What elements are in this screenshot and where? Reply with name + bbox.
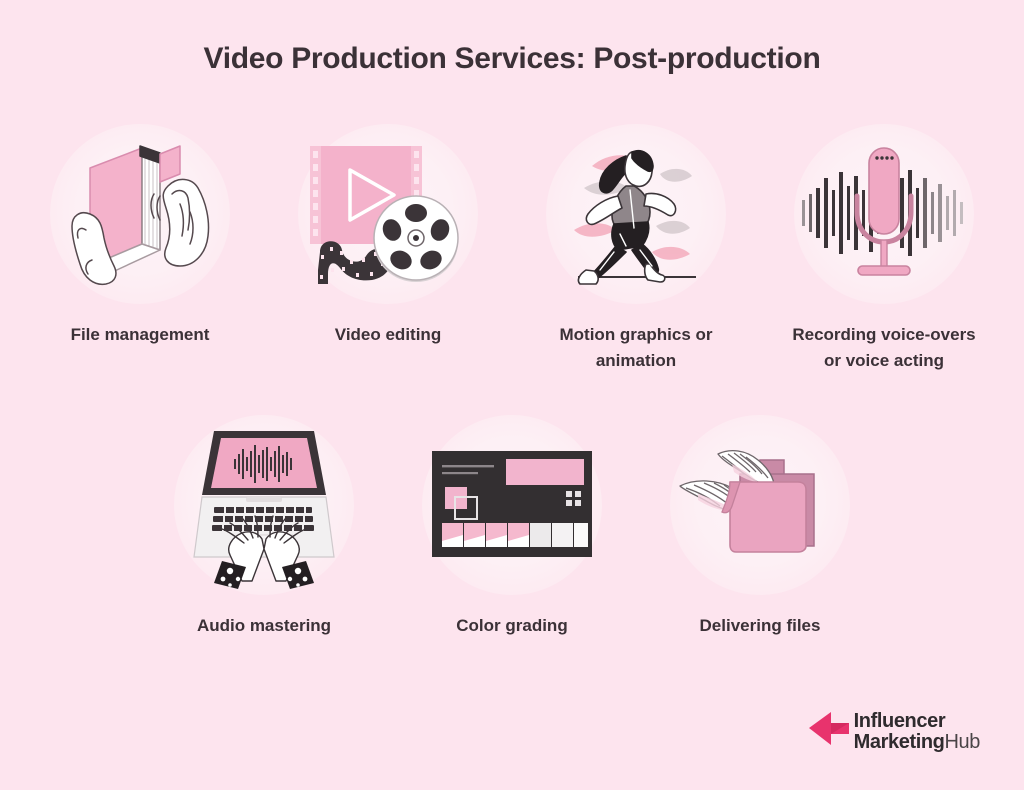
icon-container bbox=[298, 124, 478, 304]
logo-hub-text: Hub bbox=[945, 731, 981, 753]
microphone-waveform-icon bbox=[796, 134, 972, 294]
brand-logo[interactable]: Influencer MarketingHub bbox=[807, 709, 980, 754]
logo-arrow-icon bbox=[807, 709, 851, 754]
service-card-voice-recording[interactable]: Recording voice-overs or voice acting bbox=[763, 124, 1005, 373]
icon-container bbox=[50, 124, 230, 304]
logo-marketing-text: Marketing bbox=[854, 731, 945, 753]
icon-container bbox=[546, 124, 726, 304]
binder-hands-icon bbox=[56, 134, 224, 294]
service-label: Delivering files bbox=[700, 613, 821, 639]
color-panel-icon bbox=[428, 445, 596, 565]
service-label: File management bbox=[71, 322, 210, 348]
running-figure-icon bbox=[556, 134, 716, 294]
icon-container bbox=[794, 124, 974, 304]
service-card-motion-graphics[interactable]: Motion graphics or animation bbox=[515, 124, 757, 373]
service-row-2: Audio mastering bbox=[0, 415, 1024, 639]
service-label: Video editing bbox=[335, 322, 441, 348]
laptop-waveform-icon bbox=[180, 421, 348, 589]
film-reel-icon bbox=[302, 134, 474, 294]
service-card-file-management[interactable]: File management bbox=[19, 124, 261, 348]
service-label: Audio mastering bbox=[197, 613, 331, 639]
service-card-color-grading[interactable]: Color grading bbox=[391, 415, 633, 639]
page-title: Video Production Services: Post-producti… bbox=[0, 0, 1024, 76]
icon-container bbox=[670, 415, 850, 595]
service-row-1: File management bbox=[0, 124, 1024, 373]
service-label: Motion graphics or animation bbox=[536, 322, 736, 373]
icon-container bbox=[422, 415, 602, 595]
winged-folder-icon bbox=[674, 430, 846, 580]
service-label: Color grading bbox=[456, 613, 567, 639]
logo-line-1: Influencer bbox=[854, 711, 980, 731]
logo-line-2: MarketingHub bbox=[854, 732, 980, 752]
service-card-video-editing[interactable]: Video editing bbox=[267, 124, 509, 348]
icon-container bbox=[174, 415, 354, 595]
service-label: Recording voice-overs or voice acting bbox=[784, 322, 984, 373]
service-card-delivering-files[interactable]: Delivering files bbox=[639, 415, 881, 639]
service-card-audio-mastering[interactable]: Audio mastering bbox=[143, 415, 385, 639]
